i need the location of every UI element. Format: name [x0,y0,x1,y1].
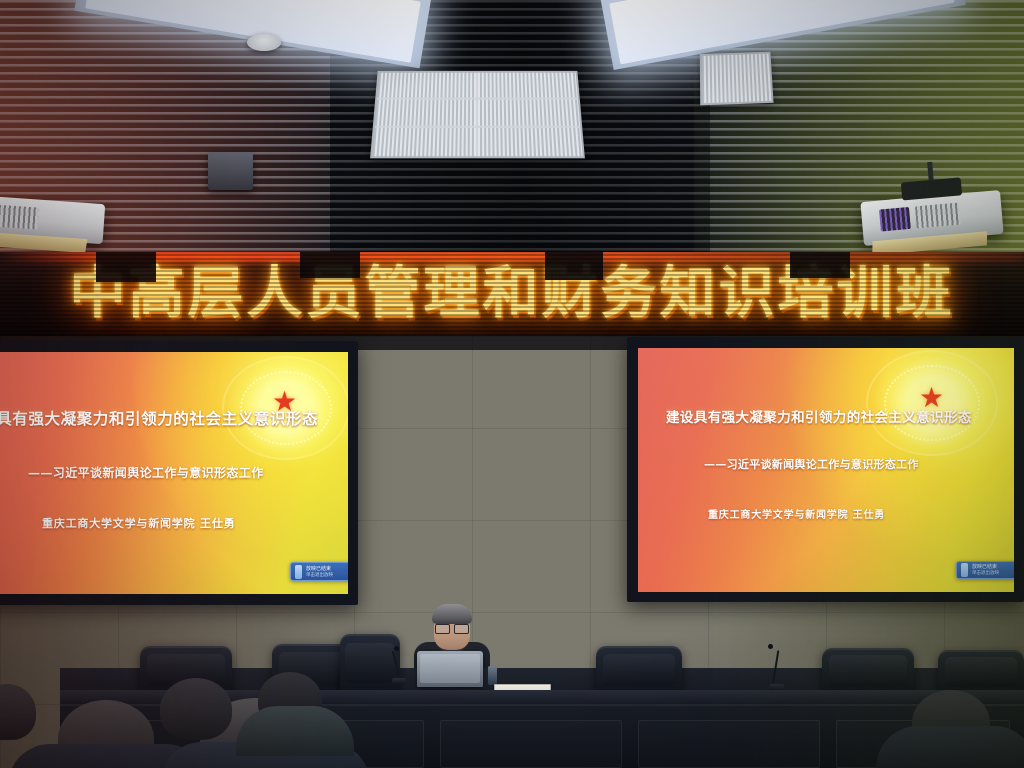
slide-toast-left[interactable]: 放映已结束 单击退出放映 [290,562,348,581]
slide-author-left: 重庆工商大学文学与新闻学院 王仕勇 [42,515,235,531]
slide-subtitle-right: ——习近平谈新闻舆论工作与意识形态工作 [704,456,919,472]
chair-5[interactable] [822,648,914,694]
slide-author-right: 重庆工商大学文学与新闻学院 王仕勇 [708,506,885,521]
chair-4[interactable] [596,646,682,694]
glasses-icon [435,624,469,632]
toast-icon-left [295,565,302,579]
projector-vent-right [879,207,911,232]
cup [488,666,497,685]
banner-occluder-2 [300,252,360,278]
projector-left [0,196,105,244]
banner-occluder-3 [545,252,603,280]
hvac-vent-small [700,52,774,106]
projector-grille-right [915,203,961,229]
audience-shoulders-4 [236,706,354,756]
microphone-base-left [392,678,406,684]
left-slide-content: ★ 建设具有强大凝聚力和引领力的社会主义意识形态 ——习近平谈新闻舆论工作与意识… [0,352,348,594]
led-banner: 中高层人员管理和财务知识培训班 [0,252,1024,340]
right-slide-content: ★ 建设具有强大凝聚力和引领力的社会主义意识形态 ——习近平谈新闻舆论工作与意识… [638,348,1014,592]
laptop[interactable] [417,651,483,687]
chair-3[interactable] [340,634,400,692]
podium-panel-4 [638,720,820,768]
slide-toast-right[interactable]: 放映已结束 单击退出放映 [956,561,1014,579]
banner-occluder-4 [790,252,850,278]
slide-title-right: 建设具有强大凝聚力和引领力的社会主义意识形态 [666,406,972,426]
toast-icon-right [961,563,968,577]
slide-title-left: 建设具有强大凝聚力和引领力的社会主义意识形态 [0,407,318,429]
projector-grille-left [0,205,39,230]
chair-6[interactable] [938,650,1024,694]
hvac-vent-large [370,71,585,158]
toast-line2-right: 单击退出放映 [972,570,999,576]
slide-subtitle-left: ——习近平谈新闻舆论工作与意识形态工作 [28,464,264,481]
speaker-hair [432,604,472,624]
ceiling-speaker-box [208,152,253,190]
podium-panel-3 [440,720,622,768]
audience-shoulders-6 [876,726,1024,768]
microphone-head-left [394,646,399,651]
projector-mount-right [901,177,962,200]
audience-head-3 [160,678,232,740]
microphone-head-right [768,644,773,649]
conference-room-screenshot: 中高层人员管理和财务知识培训班 ★ 建设具有强大凝聚力和引领力的社会主义意识形态… [0,0,1024,768]
dome-light-icon [247,34,281,51]
ceiling [0,0,1024,262]
banner-occluder-1 [96,252,156,282]
toast-line2-left: 单击退出放映 [306,572,333,578]
